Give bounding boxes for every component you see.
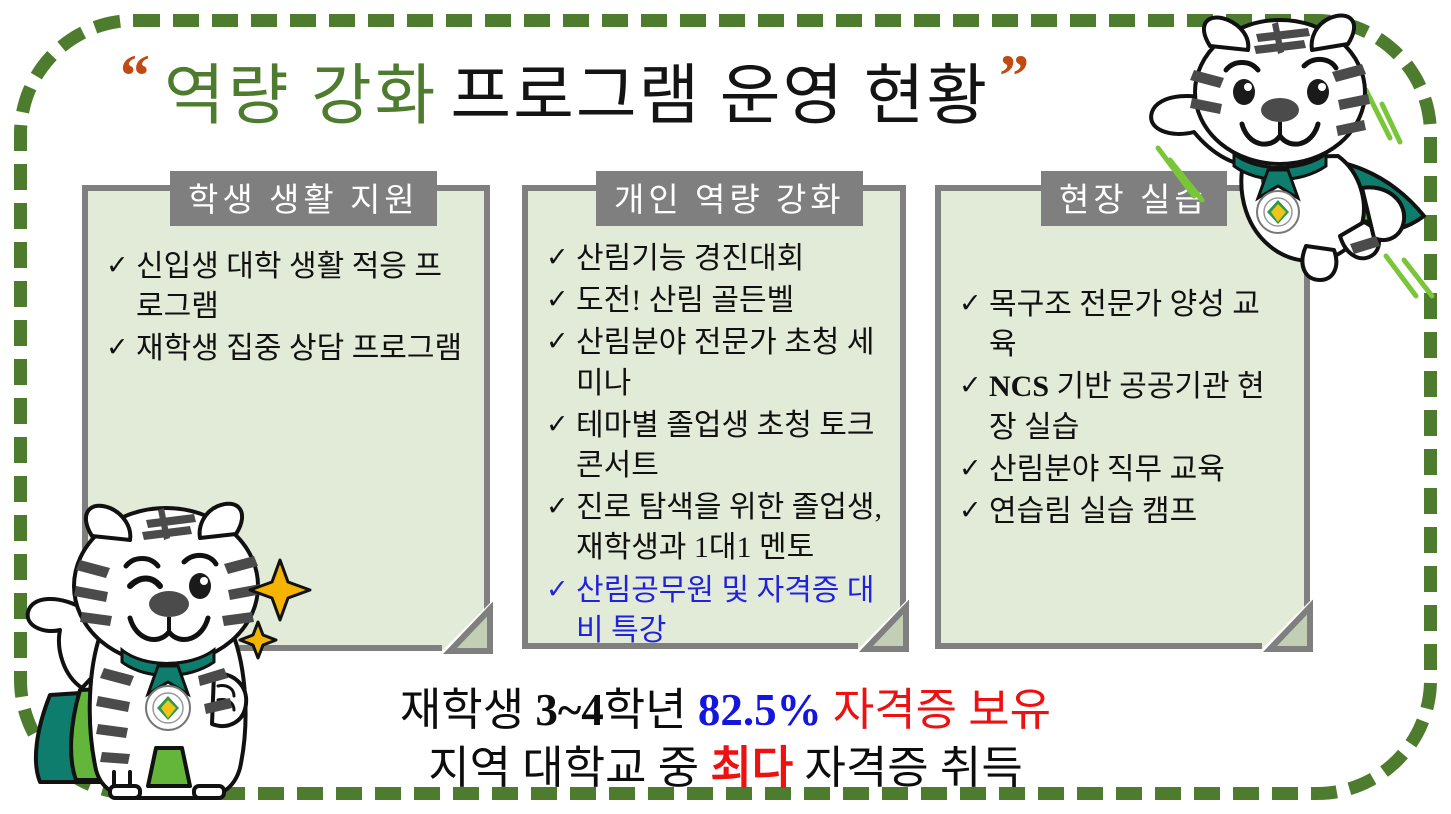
- list-item-label: 산림기능 경진대회: [576, 239, 882, 279]
- summary-l2-p3: 자격증 취득: [793, 743, 1023, 793]
- list-item-label: 진로 탐색을 위한 졸업생, 재학생과 1대1 멘토: [576, 488, 882, 568]
- check-icon: ✓: [959, 285, 989, 321]
- list-item-label: 신입생 대학 생활 적응 프로그램: [136, 247, 466, 327]
- check-icon: ✓: [546, 239, 576, 275]
- list-item: ✓ 재학생 집중 상담 프로그램: [106, 329, 466, 369]
- card-list-field-practice: ✓ 목구조 전문가 양성 교육 ✓ NCS 기반 공공기관 현장 실습 ✓ 산림…: [959, 285, 1286, 534]
- check-icon: ✓: [959, 492, 989, 528]
- list-item-highlighted: ✓ 산림공무원 및 자격증 대비 특강: [546, 571, 882, 651]
- page-title: “ 역량 강화 프로그램 운영 현황 ”: [120, 42, 1180, 137]
- check-icon: ✓: [546, 323, 576, 359]
- list-item-label: 테마별 졸업생 초청 토크 콘서트: [576, 406, 882, 486]
- page-title-rest: 프로그램 운영 현황: [450, 42, 989, 138]
- list-item: ✓ 산림분야 직무 교육: [959, 450, 1286, 490]
- check-icon: ✓: [546, 406, 576, 442]
- summary-l1-grade: 3~4: [535, 685, 603, 735]
- check-icon: ✓: [959, 367, 989, 403]
- list-item: ✓ 산림분야 전문가 초청 세미나: [546, 323, 882, 403]
- summary-l1-percentage: 82.5%: [698, 685, 822, 735]
- list-item-label: 도전! 산림 골든벨: [576, 281, 882, 321]
- summary-l2-emphasis: 최다: [710, 743, 793, 793]
- tiger-mascot-flying: [1132, 8, 1451, 300]
- list-item: ✓ 도전! 산림 골든벨: [546, 281, 882, 321]
- check-icon: ✓: [959, 450, 989, 486]
- summary-l1-p5: 자격증 보유: [822, 685, 1052, 735]
- open-quote-mark: “: [120, 46, 150, 106]
- card-list-student-life-support: ✓ 신입생 대학 생활 적응 프로그램 ✓ 재학생 집중 상담 프로그램: [106, 247, 466, 372]
- close-quote-mark: ”: [999, 46, 1029, 106]
- list-item: ✓ 진로 탐색을 위한 졸업생, 재학생과 1대1 멘토: [546, 488, 882, 568]
- summary-l2-p1: 지역 대학교 중: [428, 743, 710, 793]
- card-list-individual-capability: ✓ 산림기능 경진대회 ✓ 도전! 산림 골든벨 ✓ 산림분야 전문가 초청 세…: [546, 239, 882, 653]
- list-item: ✓ 테마별 졸업생 초청 토크 콘서트: [546, 406, 882, 486]
- list-item: ✓ 산림기능 경진대회: [546, 239, 882, 279]
- list-item-label: 재학생 집중 상담 프로그램: [136, 329, 466, 369]
- folded-corner-icon: [436, 597, 496, 657]
- check-icon: ✓: [546, 281, 576, 317]
- card-header-individual-capability: 개인 역량 강화: [596, 171, 863, 226]
- check-icon: ✓: [546, 488, 576, 524]
- list-item-label: 산림분야 직무 교육: [989, 450, 1286, 490]
- list-item-label: 산림분야 전문가 초청 세미나: [576, 323, 882, 403]
- list-item-label: 연습림 실습 캠프: [989, 492, 1286, 532]
- card-header-student-life-support: 학생 생활 지원: [170, 171, 437, 226]
- page-title-highlight: 역량 강화: [164, 42, 438, 138]
- check-icon: ✓: [106, 329, 136, 365]
- list-item: ✓ 연습림 실습 캠프: [959, 492, 1286, 532]
- list-item: ✓ NCS 기반 공공기관 현장 실습: [959, 367, 1286, 447]
- folded-corner-icon: [1256, 595, 1316, 655]
- tiger-mascot-pointing: [18, 490, 318, 808]
- list-item-label: NCS 기반 공공기관 현장 실습: [989, 367, 1286, 447]
- check-icon: ✓: [106, 247, 136, 283]
- card-individual-capability[interactable]: 개인 역량 강화 ✓ 산림기능 경진대회 ✓ 도전! 산림 골든벨 ✓ 산림분야…: [522, 185, 906, 649]
- list-item: ✓ 신입생 대학 생활 적응 프로그램: [106, 247, 466, 327]
- check-icon: ✓: [546, 571, 576, 607]
- slide-canvas: “ 역량 강화 프로그램 운영 현황 ” 학생 생활 지원 ✓ 신입생 대학 생…: [0, 0, 1451, 814]
- summary-l1-p3: 학년: [604, 685, 698, 735]
- list-item-label: 산림공무원 및 자격증 대비 특강: [576, 571, 882, 651]
- summary-l1-p1: 재학생: [400, 685, 535, 735]
